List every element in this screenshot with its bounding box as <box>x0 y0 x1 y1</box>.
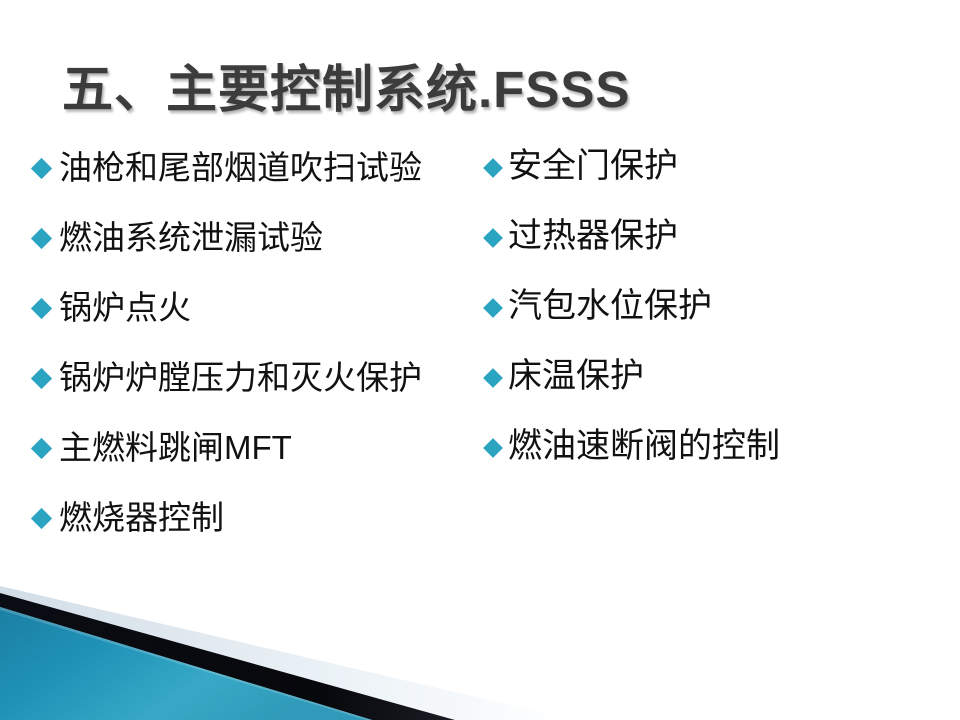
list-item: 燃油系统泄漏试验 <box>34 202 484 272</box>
list-item-label: 汽包水位保护 <box>508 290 712 324</box>
diamond-bullet-icon <box>483 228 503 248</box>
list-item: 油枪和尾部烟道吹扫试验 <box>34 132 484 202</box>
list-item-label: 油枪和尾部烟道吹扫试验 <box>59 151 422 184</box>
bottom-diagonal-decoration <box>0 560 960 720</box>
diamond-bullet-icon <box>31 367 52 388</box>
list-item: 床温保护 <box>486 342 906 412</box>
list-item-label: 床温保护 <box>508 360 644 394</box>
diamond-bullet-icon <box>483 298 503 318</box>
diamond-bullet-icon <box>31 227 52 248</box>
diamond-bullet-icon <box>31 157 52 178</box>
diamond-bullet-icon <box>31 507 52 528</box>
teal-highlight-edge <box>0 607 372 720</box>
list-item: 锅炉点火 <box>34 272 484 342</box>
diamond-bullet-icon <box>483 158 503 178</box>
diamond-bullet-icon <box>31 297 52 318</box>
bullet-column-right: 安全门保护 过热器保护 汽包水位保护 床温保护 燃油速断阀的控制 <box>486 132 906 482</box>
list-item-label: 锅炉炉膛压力和灭火保护 <box>59 361 422 394</box>
list-item-label: 燃烧器控制 <box>59 501 224 534</box>
list-item: 锅炉炉膛压力和灭火保护 <box>34 342 484 412</box>
list-item: 主燃料跳闸MFT <box>34 412 484 482</box>
list-item-label: 安全门保护 <box>508 150 678 184</box>
pale-wedge <box>0 586 575 720</box>
list-item: 燃烧器控制 <box>34 482 484 552</box>
slide-canvas: 五、主要控制系统.FSSS 油枪和尾部烟道吹扫试验 燃油系统泄漏试验 锅炉点火 … <box>0 0 960 720</box>
list-item: 安全门保护 <box>486 132 906 202</box>
list-item-label: 燃油速断阀的控制 <box>508 430 780 464</box>
diamond-bullet-icon <box>31 437 52 458</box>
list-item: 燃油速断阀的控制 <box>486 412 906 482</box>
list-item: 汽包水位保护 <box>486 272 906 342</box>
list-item: 过热器保护 <box>486 202 906 272</box>
diamond-bullet-icon <box>483 368 503 388</box>
list-item-label: 锅炉点火 <box>59 291 191 324</box>
diamond-bullet-icon <box>483 438 503 458</box>
list-item-label: 燃油系统泄漏试验 <box>59 221 323 254</box>
page-title: 五、主要控制系统.FSSS <box>62 48 630 122</box>
bullet-column-left: 油枪和尾部烟道吹扫试验 燃油系统泄漏试验 锅炉点火 锅炉炉膛压力和灭火保护 主燃… <box>34 132 484 552</box>
list-item-label: 主燃料跳闸MFT <box>59 431 292 464</box>
dark-stripe <box>0 593 455 720</box>
teal-wedge <box>0 607 372 720</box>
list-item-label: 过热器保护 <box>508 220 678 254</box>
